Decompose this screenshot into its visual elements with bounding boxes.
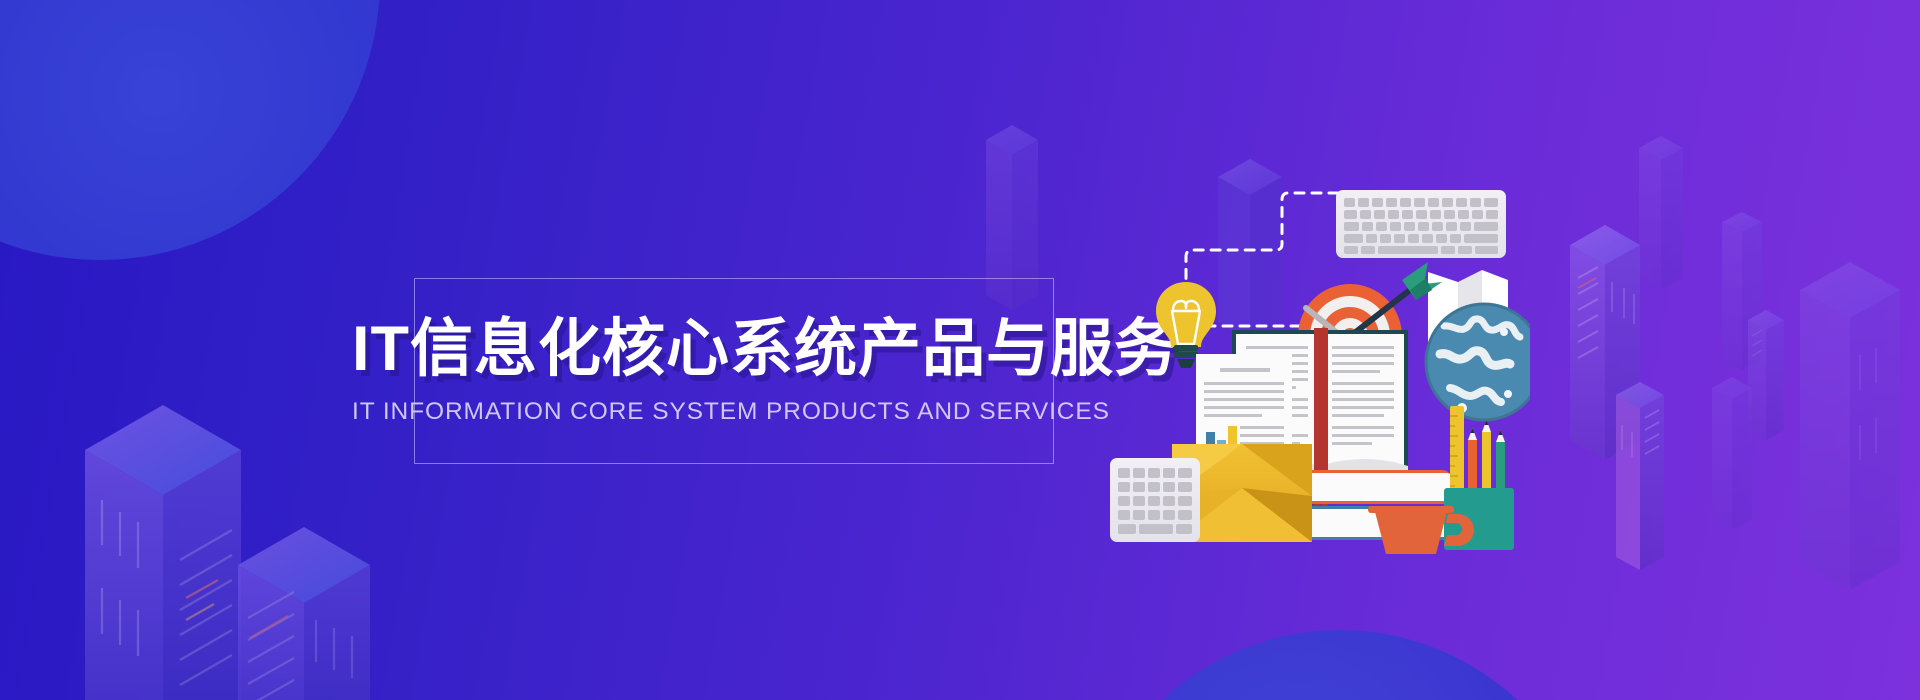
title-block: IT信息化核心系统产品与服务 IT INFORMATION CORE SYSTE… — [352, 318, 1112, 426]
tower-right-f — [1712, 377, 1752, 530]
hero-banner: IT信息化核心系统产品与服务 IT INFORMATION CORE SYSTE… — [0, 0, 1920, 700]
keyboard-bottom-icon — [1110, 458, 1200, 542]
tower-right-a — [1639, 136, 1683, 290]
it-knowledge-workspace-illustration — [1110, 140, 1530, 570]
pencil-holder-icon — [1444, 406, 1514, 550]
page-subtitle: IT INFORMATION CORE SYSTEM PRODUCTS AND … — [352, 398, 1112, 426]
tower-left-short — [238, 527, 370, 700]
tower-left-tall — [85, 405, 241, 700]
tower-right-g — [1800, 262, 1900, 590]
tower-right-d — [1616, 382, 1664, 570]
keyboard-top-icon — [1336, 190, 1506, 258]
globe-icon — [1426, 304, 1530, 420]
page-title: IT信息化核心系统产品与服务 — [352, 318, 1112, 381]
tower-right-e — [1748, 310, 1784, 440]
